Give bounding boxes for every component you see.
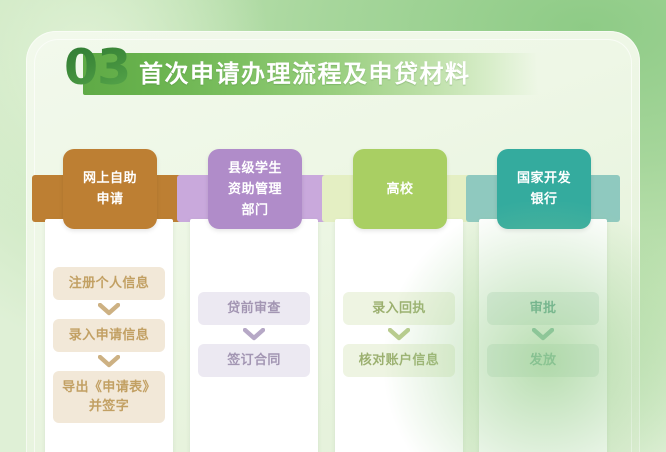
page-title: 首次申请办理流程及申贷材料 (139, 59, 471, 89)
chip-line-4b: 银行 (530, 192, 557, 207)
chip-line-4a: 国家开发 (517, 171, 571, 186)
flow-column-china-development-bank: 国家开发 银行 审批 发放 (479, 147, 607, 452)
step-pill[interactable]: 签订合同 (198, 344, 310, 377)
flow-column-university: 高校 录入回执 核对账户信息 (335, 147, 463, 452)
chevron-down-icon (243, 328, 265, 341)
poster-background: 03 首次申请办理流程及申贷材料 网上自助 申请 注册个人信息 (0, 0, 666, 452)
step-pill[interactable]: 发放 (487, 344, 599, 377)
column-header-chip-1[interactable]: 网上自助 申请 (63, 149, 157, 229)
chip-label-4: 国家开发 银行 (517, 168, 571, 210)
step-label: 核对账户信息 (359, 353, 439, 368)
chip-line-1b: 申请 (96, 192, 123, 207)
chevron-down-icon (98, 303, 120, 316)
column-header-chip-2[interactable]: 县级学生 资助管理 部门 (208, 149, 302, 229)
column-header-chip-4[interactable]: 国家开发 银行 (497, 149, 591, 229)
chip-label-3: 高校 (386, 179, 413, 200)
step-pill[interactable]: 录入申请信息 (53, 319, 165, 352)
flow-column-county-student-aid-office: 县级学生 资助管理 部门 贷前审查 签订合同 (190, 147, 318, 452)
chevron-down-icon (388, 328, 410, 341)
chevron-down-icon (98, 355, 120, 368)
column-steps-3: 录入回执 核对账户信息 (335, 292, 463, 377)
step-pill[interactable]: 贷前审查 (198, 292, 310, 325)
section-header: 03 首次申请办理流程及申贷材料 (26, 49, 640, 101)
step-pill[interactable]: 核对账户信息 (343, 344, 455, 377)
step-label: 贷前审查 (227, 301, 281, 316)
step-pill[interactable]: 导出《申请表》 并签字 (53, 371, 165, 423)
chip-line-2b: 资助管理 (228, 182, 282, 197)
step-label: 录入回执 (372, 301, 426, 316)
column-steps-1: 注册个人信息 录入申请信息 导出《申请表》 并签字 (45, 267, 173, 423)
step-label: 审批 (530, 301, 557, 316)
column-steps-4: 审批 发放 (479, 292, 607, 377)
chip-line-1a: 网上自助 (83, 171, 137, 186)
process-flow-columns: 网上自助 申请 注册个人信息 录入申请信息 (45, 147, 625, 452)
step-label-line2: 并签字 (89, 399, 129, 414)
chip-label-1: 网上自助 申请 (83, 168, 137, 210)
step-label: 签订合同 (227, 353, 281, 368)
flow-column-online-self-service: 网上自助 申请 注册个人信息 录入申请信息 (45, 147, 173, 452)
step-pill[interactable]: 录入回执 (343, 292, 455, 325)
step-pill[interactable]: 审批 (487, 292, 599, 325)
step-label: 导出《申请表》 (62, 380, 156, 395)
chip-label-2: 县级学生 资助管理 部门 (228, 158, 282, 221)
column-header-chip-3[interactable]: 高校 (353, 149, 447, 229)
section-number: 03 (64, 43, 130, 92)
chip-line-2c: 部门 (241, 203, 268, 218)
content-card: 03 首次申请办理流程及申贷材料 网上自助 申请 注册个人信息 (26, 31, 640, 452)
chevron-down-icon (532, 328, 554, 341)
step-label: 发放 (530, 353, 557, 368)
step-pill[interactable]: 注册个人信息 (53, 267, 165, 300)
chip-line-2a: 县级学生 (228, 161, 282, 176)
step-label: 注册个人信息 (69, 276, 149, 291)
column-steps-2: 贷前审查 签订合同 (190, 292, 318, 377)
step-label: 录入申请信息 (69, 328, 149, 343)
